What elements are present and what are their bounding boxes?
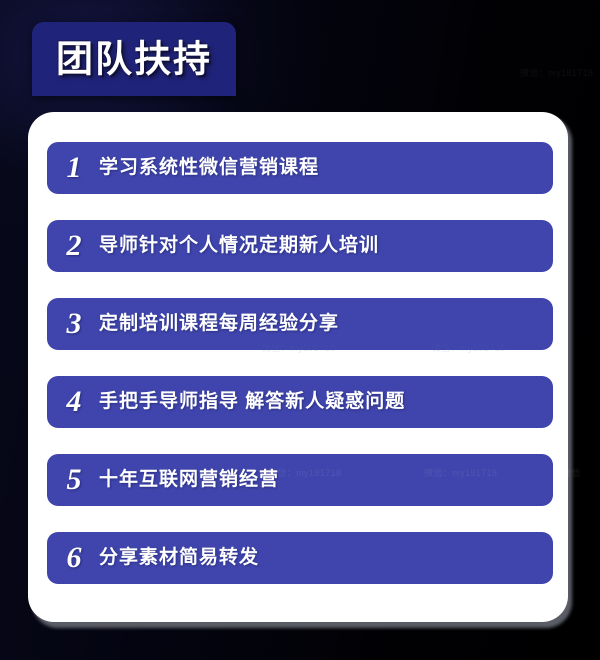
list-item-number: 1: [47, 153, 95, 183]
list-item-label: 分享素材简易转发: [95, 548, 553, 569]
list-item-number: 4: [47, 387, 95, 417]
watermark-text: 微信：my191718: [520, 66, 593, 79]
list-item-number: 3: [47, 309, 95, 339]
list-item[interactable]: 5 十年互联网营销经营: [47, 454, 553, 506]
list-item-label: 十年互联网营销经营: [95, 470, 553, 491]
list-item-number: 5: [47, 465, 95, 495]
page-title: 团队扶持: [32, 41, 236, 78]
list-item-number: 2: [47, 231, 95, 261]
poster-root: 团队扶持 1 学习系统性微信营销课程 2 导师针对个人情况定期新人培训 3 定制…: [0, 0, 600, 660]
list-item-label: 定制培训课程每周经验分享: [95, 314, 553, 335]
list-item[interactable]: 1 学习系统性微信营销课程: [47, 142, 553, 194]
title-badge: 团队扶持: [32, 22, 236, 96]
list-item-number: 6: [47, 543, 95, 573]
list-item[interactable]: 4 手把手导师指导 解答新人疑惑问题: [47, 376, 553, 428]
list-item-label: 手把手导师指导 解答新人疑惑问题: [95, 392, 553, 413]
list-item-label: 导师针对个人情况定期新人培训: [95, 236, 553, 257]
list-item-label: 学习系统性微信营销课程: [95, 158, 553, 179]
list-item[interactable]: 3 定制培训课程每周经验分享: [47, 298, 553, 350]
list-item[interactable]: 2 导师针对个人情况定期新人培训: [47, 220, 553, 272]
benefit-list: 1 学习系统性微信营销课程 2 导师针对个人情况定期新人培训 3 定制培训课程每…: [47, 142, 553, 584]
list-item[interactable]: 6 分享素材简易转发: [47, 532, 553, 584]
